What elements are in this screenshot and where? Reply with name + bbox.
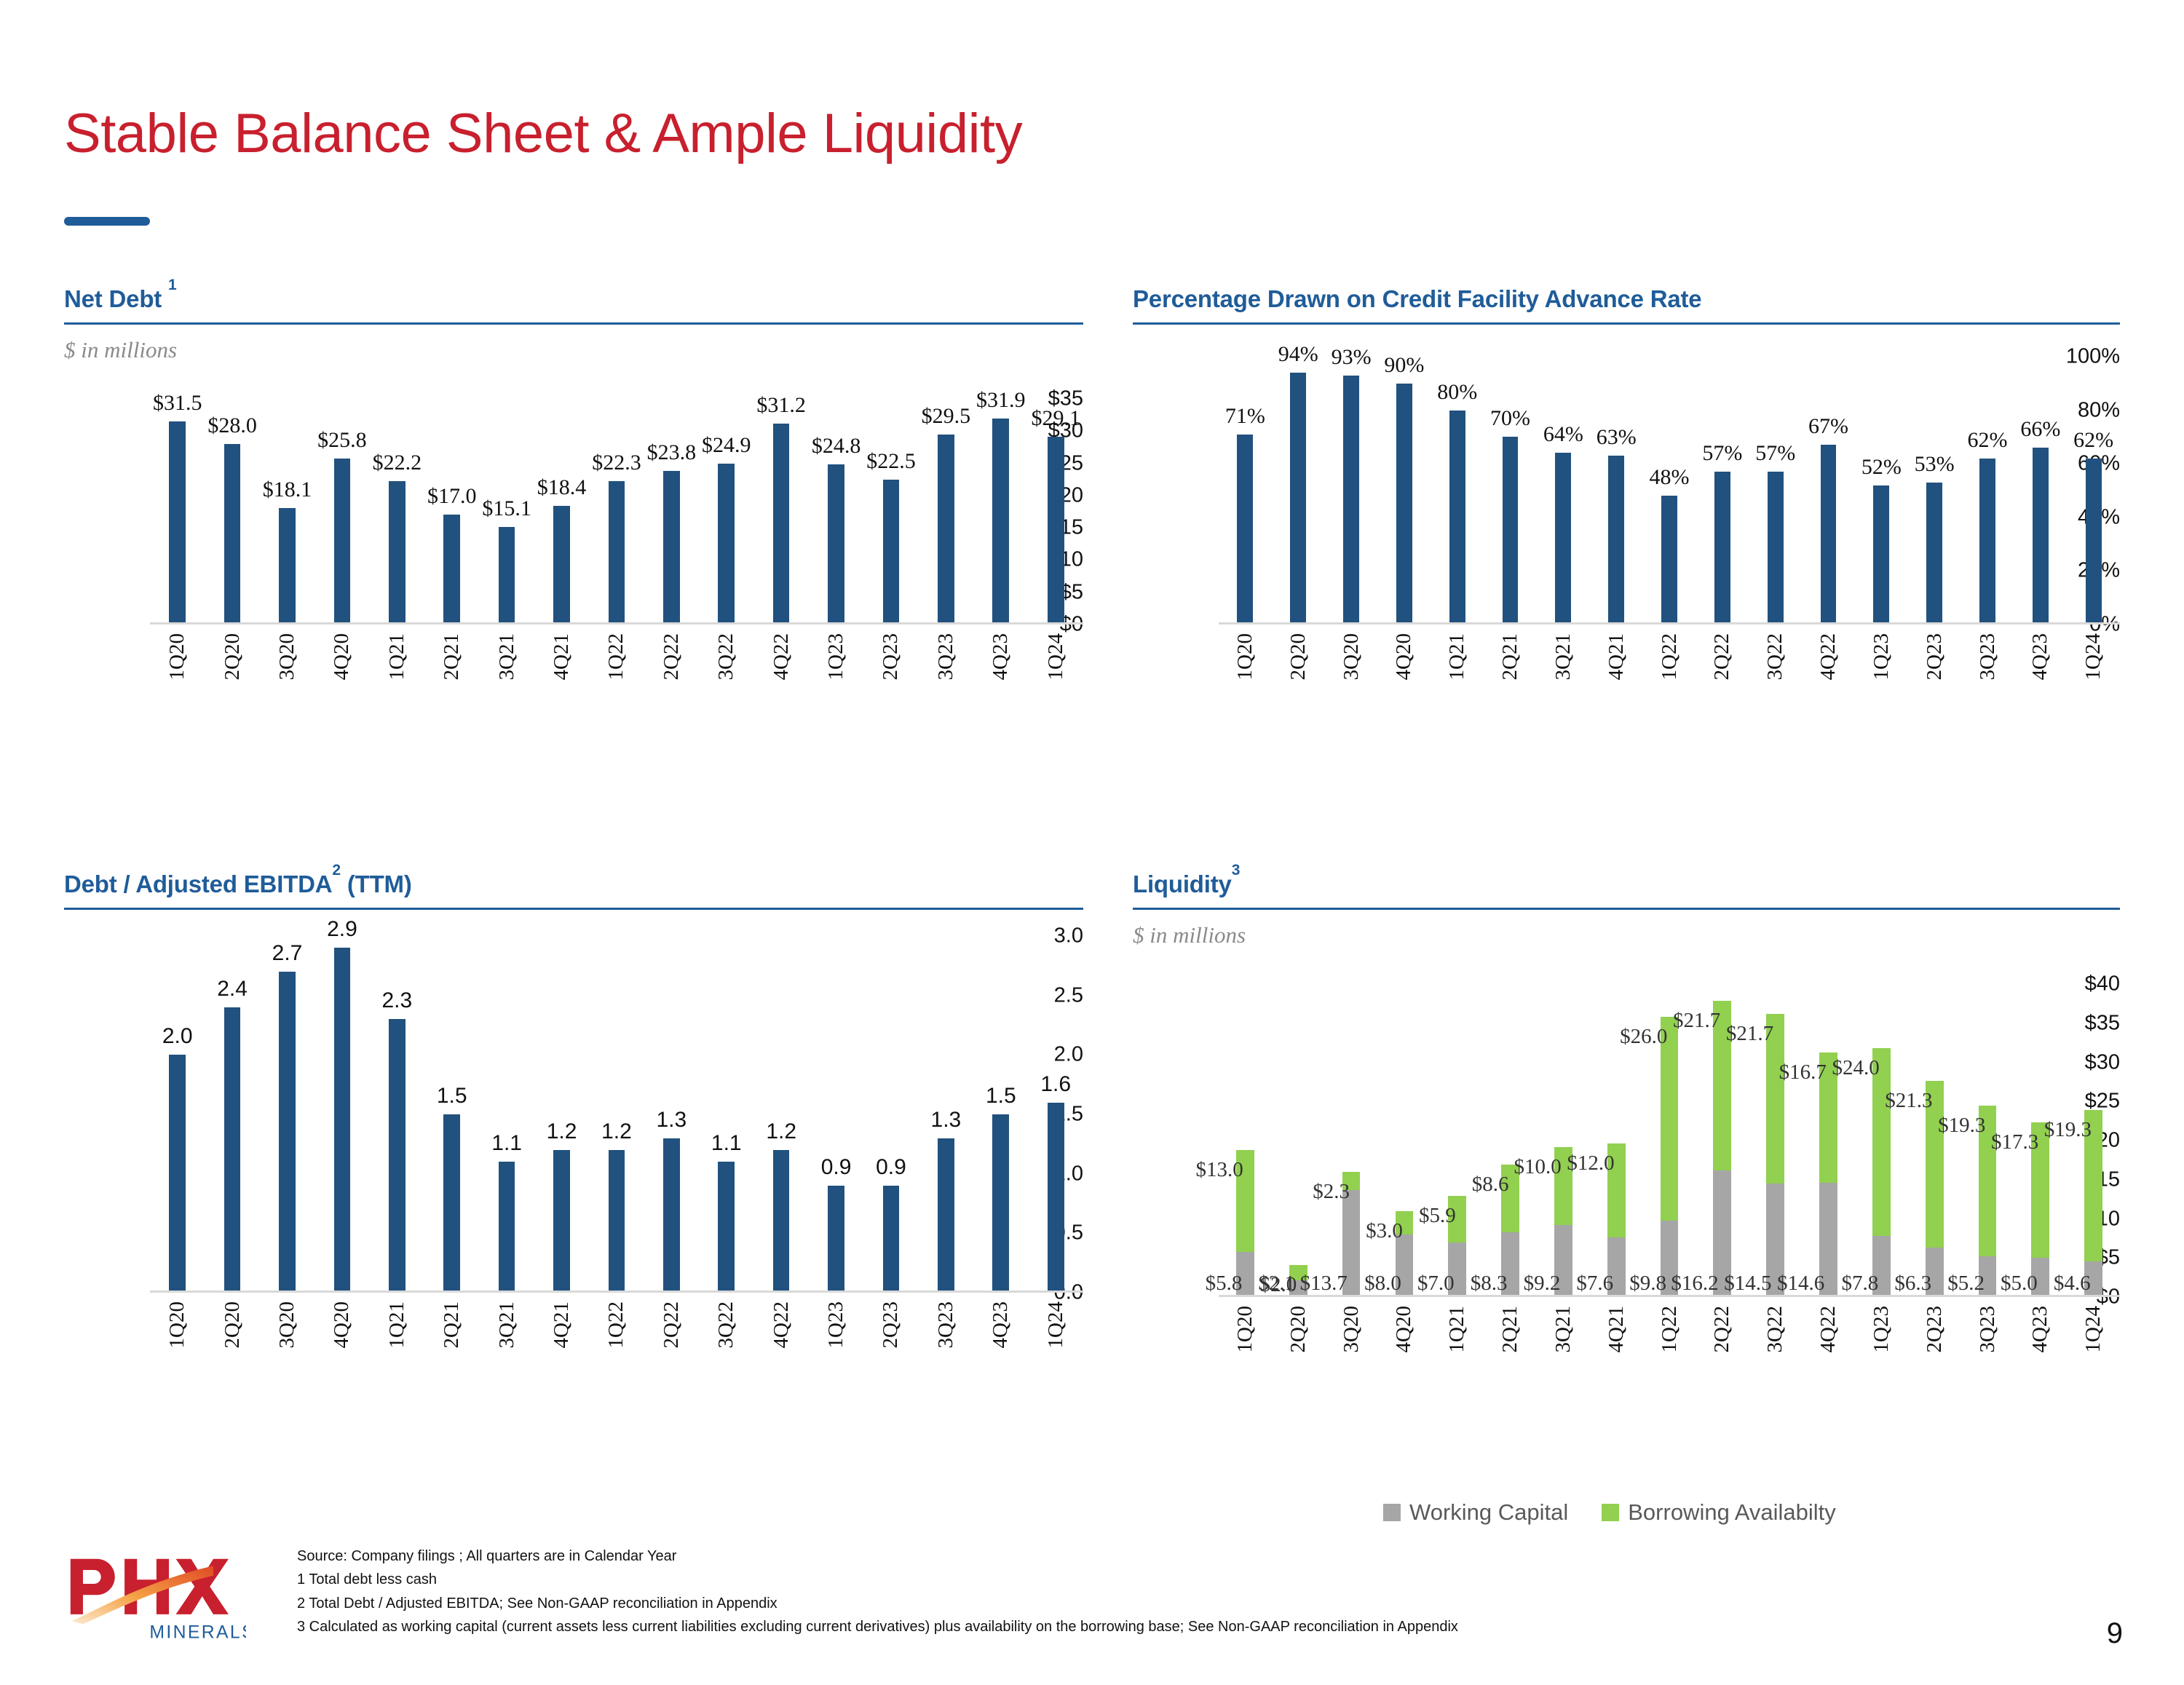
- bar-value-label: 1.1: [711, 1131, 742, 1156]
- bar-value-label: 62%: [2073, 428, 2113, 453]
- x-axis-tick: 3Q23: [1961, 633, 2014, 777]
- x-axis-baseline: [1219, 1295, 2120, 1297]
- x-axis-tick: 4Q21: [1590, 1306, 1643, 1450]
- panel-divider-pct-drawn: [1133, 322, 2120, 325]
- bar-value-label: 2.3: [381, 988, 412, 1013]
- bar[interactable]: [1290, 373, 1306, 625]
- bar-value-label: 1.1: [491, 1131, 522, 1156]
- footnote-marker-3: 3: [1232, 862, 1240, 879]
- bar[interactable]: [2086, 459, 2102, 625]
- x-axis-tick: 1Q22: [1643, 633, 1696, 777]
- bar-slot[interactable]: $29.5: [919, 399, 973, 625]
- bar-slot[interactable]: 0.9: [809, 936, 863, 1293]
- panel-title-net-debt: Net Debt 1: [64, 285, 1083, 313]
- x-axis-tick: 1Q23: [809, 633, 863, 777]
- bar-value-label: 64%: [1543, 422, 1583, 447]
- bar-slot[interactable]: $23.8: [644, 399, 699, 625]
- x-axis-tick: 4Q23: [2014, 1306, 2067, 1450]
- bar-value-label: $18.1: [263, 477, 312, 502]
- bar[interactable]: [334, 459, 351, 625]
- legend-label: Borrowing Availabilty: [1628, 1499, 1835, 1526]
- bar-value-label-working-capital: $13.7: [1300, 1272, 1348, 1296]
- bar-slot[interactable]: $22.2: [370, 399, 424, 625]
- plot-area-pct_drawn: 71%94%93%90%80%70%64%63%48%57%57%67%52%5…: [1219, 357, 2120, 625]
- bar-slot[interactable]: $31.5: [150, 399, 205, 625]
- bar-value-label-working-capital: $16.2: [1671, 1272, 1718, 1296]
- bar[interactable]: [1873, 485, 1889, 625]
- bar-value-label: $18.4: [537, 475, 587, 500]
- x-axis-tick: 1Q23: [1855, 633, 1908, 777]
- bar[interactable]: [992, 1114, 1009, 1293]
- x-axis-tick: 4Q20: [1377, 633, 1431, 777]
- panel-title-debt-ebitda: Debt / Adjusted EBITDA2 (TTM): [64, 871, 1083, 898]
- bar[interactable]: [1449, 411, 1465, 625]
- bar-value-label-borrowing-availability: $12.0: [1567, 1151, 1614, 1175]
- bar-slot[interactable]: $7.0$5.9: [1431, 984, 1484, 1297]
- x-axis-tick: 3Q21: [479, 1301, 534, 1446]
- bar[interactable]: [443, 1114, 460, 1293]
- x-axis-tick: 4Q22: [1802, 633, 1855, 777]
- x-axis-tick: 3Q20: [1325, 633, 1378, 777]
- bar[interactable]: [389, 481, 405, 625]
- bar-value-label: 66%: [2020, 417, 2060, 442]
- bar[interactable]: [1343, 376, 1359, 625]
- bar[interactable]: [279, 972, 296, 1293]
- x-axis-tick: 3Q20: [260, 1301, 314, 1446]
- bar-value-label: 0.9: [876, 1155, 906, 1180]
- bar-value-label: $22.5: [866, 449, 916, 474]
- bar-value-label-working-capital: $7.8: [1842, 1272, 1879, 1296]
- bar[interactable]: [773, 1150, 790, 1293]
- bar-value-label: 1.6: [1040, 1072, 1071, 1097]
- logo-wordmark: MINERALS: [149, 1622, 246, 1642]
- bar-value-label-borrowing-availability: $2.3: [1313, 1180, 1350, 1204]
- bar-value-label-working-capital: $6.3: [1894, 1272, 1931, 1296]
- bar-value-label: 93%: [1332, 345, 1372, 370]
- bar[interactable]: [443, 515, 460, 625]
- bar-slot[interactable]: $2.1$2.0: [1272, 984, 1325, 1297]
- bar-value-label: 1.5: [437, 1084, 467, 1109]
- bar[interactable]: [1979, 459, 1995, 625]
- bar[interactable]: [663, 471, 680, 625]
- footnote-line: 3 Calculated as working capital (current…: [297, 1615, 1458, 1638]
- bar-value-label: 67%: [1808, 414, 1848, 439]
- bar-slot[interactable]: $8.3$8.6: [1484, 984, 1537, 1297]
- bar[interactable]: [883, 1186, 900, 1293]
- bar-slot[interactable]: $24.9: [699, 399, 753, 625]
- phx-minerals-logo: MINERALS: [64, 1555, 246, 1642]
- bar-slot[interactable]: $14.5$21.7: [1749, 984, 1802, 1297]
- x-axis-debt_ebitda: 1Q202Q203Q204Q201Q212Q213Q214Q211Q222Q22…: [150, 1301, 1083, 1446]
- bar-slot[interactable]: $31.2: [753, 399, 808, 625]
- bar-slot[interactable]: $6.3$21.3: [1908, 984, 1961, 1297]
- bar[interactable]: [1048, 1103, 1064, 1293]
- panel-debt-ebitda: Debt / Adjusted EBITDA2 (TTM): [64, 871, 1083, 910]
- x-axis-tick: 1Q24: [1029, 1301, 1083, 1446]
- x-axis-tick: 2Q20: [1272, 633, 1325, 777]
- bar-slot[interactable]: $22.5: [863, 399, 918, 625]
- bar[interactable]: [1396, 384, 1412, 625]
- bar[interactable]: [389, 1019, 405, 1293]
- bar-value-label: 1.2: [547, 1119, 577, 1144]
- bar-value-label-borrowing-availability: $17.3: [1991, 1130, 2038, 1154]
- footnote-line: Source: Company filings ; All quarters a…: [297, 1545, 1458, 1568]
- bar-value-label: $23.8: [647, 440, 697, 465]
- footnote-marker-1: 1: [168, 277, 176, 293]
- legend-swatch-icon: [1602, 1504, 1619, 1521]
- bar[interactable]: [1661, 496, 1677, 625]
- bar-slot[interactable]: 52%: [1855, 357, 1908, 625]
- x-axis-tick: 4Q21: [1590, 633, 1643, 777]
- bar-slot[interactable]: 67%: [1802, 357, 1855, 625]
- stacked-bar[interactable]: [1872, 1048, 1891, 1297]
- x-axis-tick: 3Q22: [699, 1301, 753, 1446]
- bar-value-label: $22.2: [373, 451, 422, 475]
- bar-value-label: $24.9: [702, 433, 751, 458]
- bar-value-label: 63%: [1597, 425, 1637, 450]
- bar[interactable]: [553, 506, 570, 625]
- bar-slot[interactable]: 57%: [1749, 357, 1802, 625]
- bar-slot[interactable]: 2.7: [260, 936, 314, 1293]
- x-axis-tick: 1Q20: [1219, 1306, 1272, 1450]
- bar-slot[interactable]: 2.9: [314, 936, 369, 1293]
- bar-slot[interactable]: $18.4: [534, 399, 589, 625]
- bar-value-label-working-capital: $5.8: [1206, 1272, 1243, 1296]
- bar-slot[interactable]: $13.7$2.3: [1325, 984, 1378, 1297]
- bar[interactable]: [718, 1162, 735, 1293]
- stacked-bar[interactable]: [1819, 1052, 1837, 1297]
- bar-value-label: 53%: [1915, 452, 1955, 477]
- bar[interactable]: [1503, 437, 1519, 625]
- x-axis-tick: 1Q23: [1855, 1306, 1908, 1450]
- title-underline-accent: [64, 217, 150, 226]
- x-axis-tick: 1Q24: [1029, 633, 1083, 777]
- panel-title-debt-ebitda-text: Debt / Adjusted EBITDA: [64, 871, 332, 897]
- panel-liquidity: Liquidity3 $ in millions: [1133, 871, 2120, 948]
- x-axis-tick: 3Q20: [260, 633, 314, 777]
- bar[interactable]: [169, 421, 186, 625]
- bar-value-label: 1.5: [986, 1084, 1016, 1109]
- bar[interactable]: [1555, 453, 1571, 625]
- x-axis-tick: 3Q23: [1961, 1306, 2014, 1450]
- bar[interactable]: [828, 1186, 844, 1293]
- footnotes-block: Source: Company filings ; All quarters a…: [297, 1545, 1458, 1639]
- bar[interactable]: [1714, 472, 1730, 625]
- bar-slot[interactable]: 57%: [1696, 357, 1749, 625]
- bar[interactable]: [1821, 445, 1837, 625]
- bar[interactable]: [992, 419, 1009, 625]
- bar[interactable]: [279, 508, 296, 625]
- legend-item-working-capital[interactable]: Working Capital: [1383, 1499, 1568, 1526]
- bar-value-label: $29.5: [922, 404, 971, 429]
- x-axis-tick: 3Q23: [919, 1301, 973, 1446]
- legend-label: Working Capital: [1409, 1499, 1568, 1526]
- x-axis-net_debt: 1Q202Q203Q204Q201Q212Q213Q214Q211Q222Q22…: [150, 633, 1083, 777]
- legend-liquidity: Working CapitalBorrowing Availabilty: [1383, 1499, 1836, 1526]
- bar-slot[interactable]: 0.9: [863, 936, 918, 1293]
- bar-value-label: $25.8: [317, 428, 367, 453]
- panel-divider-net-debt: [64, 322, 1083, 325]
- bar-slot[interactable]: $4.6$19.3: [2067, 984, 2120, 1297]
- bar[interactable]: [938, 435, 954, 625]
- x-axis-tick: 4Q21: [534, 633, 589, 777]
- x-axis-tick: 4Q20: [314, 633, 369, 777]
- bar-slot[interactable]: 1.1: [699, 936, 753, 1293]
- slide-root: Stable Balance Sheet & Ample Liquidity N…: [0, 0, 2184, 1685]
- bar[interactable]: [1768, 472, 1784, 625]
- x-axis-tick: 2Q21: [424, 633, 479, 777]
- bar-slot[interactable]: 62%: [1961, 357, 2014, 625]
- bar-value-label: 57%: [1755, 441, 1795, 466]
- bar-slot[interactable]: 93%: [1325, 357, 1378, 625]
- legend-item-borrowing-availability[interactable]: Borrowing Availabilty: [1602, 1499, 1835, 1526]
- page-number: 9: [2107, 1617, 2123, 1650]
- bar-slot[interactable]: 63%: [1590, 357, 1643, 625]
- bar-slot[interactable]: $8.0$3.0: [1377, 984, 1431, 1297]
- bar-value-label-borrowing-availability: $10.0: [1514, 1155, 1562, 1179]
- chart-debt-ebitda: 0.00.51.01.52.02.53.02.02.42.72.92.31.51…: [64, 936, 1083, 1446]
- x-axis-tick: 2Q22: [644, 1301, 699, 1446]
- x-axis-tick: 1Q21: [370, 1301, 424, 1446]
- bar-value-label-working-capital: $7.0: [1417, 1272, 1455, 1296]
- x-axis-tick: 1Q20: [150, 1301, 205, 1446]
- panel-net-debt: Net Debt 1 $ in millions: [64, 285, 1083, 363]
- x-axis-tick: 4Q23: [2014, 633, 2067, 777]
- bar-value-label-working-capital: $4.6: [2054, 1272, 2091, 1296]
- x-axis-tick: 4Q20: [314, 1301, 369, 1446]
- bar-slot[interactable]: 48%: [1643, 357, 1696, 625]
- bar-value-label-borrowing-availability: $3.0: [1366, 1219, 1403, 1243]
- x-axis-pct_drawn: 1Q202Q203Q204Q201Q212Q213Q214Q211Q222Q22…: [1219, 633, 2120, 777]
- chart-net-debt: $0$5$10$15$20$25$30$35$31.5$28.0$18.1$25…: [64, 399, 1083, 777]
- bar-slot[interactable]: 90%: [1377, 357, 1431, 625]
- bar-value-label-borrowing-availability: $19.3: [2044, 1118, 2092, 1142]
- bar-value-label: 2.4: [217, 977, 248, 1002]
- bar-slot[interactable]: 1.2: [753, 936, 808, 1293]
- units-label-net-debt: $ in millions: [64, 337, 1083, 363]
- bar-slot[interactable]: 66%: [2014, 357, 2067, 625]
- bar-slot[interactable]: 64%: [1537, 357, 1590, 625]
- x-axis-tick: 4Q23: [973, 633, 1028, 777]
- bar-value-label: 2.0: [162, 1024, 193, 1049]
- bar-value-label: 70%: [1490, 406, 1530, 431]
- bar-value-label-working-capital: $7.6: [1576, 1272, 1613, 1296]
- bar-slot[interactable]: $15.1: [479, 399, 534, 625]
- panel-title-liquidity-text: Liquidity: [1133, 871, 1232, 897]
- x-axis-tick: 2Q20: [205, 1301, 259, 1446]
- x-axis-tick: 1Q23: [809, 1301, 863, 1446]
- bar-value-label-borrowing-availability: $16.7: [1779, 1060, 1827, 1085]
- panel-title-debt-ebitda-tail: (TTM): [341, 871, 412, 897]
- bar-value-label: $29.1: [1031, 406, 1080, 431]
- bar[interactable]: [938, 1138, 954, 1293]
- bar-value-label: 2.9: [327, 917, 357, 942]
- bar-value-label: $24.8: [812, 434, 861, 459]
- footnote-line: 1 Total debt less cash: [297, 1568, 1458, 1591]
- bar-value-label: 62%: [1968, 428, 2008, 453]
- plot-area-net_debt: $31.5$28.0$18.1$25.8$22.2$17.0$15.1$18.4…: [150, 399, 1083, 625]
- bar-slot[interactable]: $14.6$16.7: [1802, 984, 1855, 1297]
- bar[interactable]: [224, 1007, 241, 1293]
- x-axis-tick: 3Q21: [1537, 633, 1590, 777]
- bar[interactable]: [1048, 437, 1064, 625]
- bar[interactable]: [1608, 456, 1624, 625]
- bar-value-label: $31.9: [976, 388, 1026, 413]
- bar-slot[interactable]: 1.2: [534, 936, 589, 1293]
- bar-slot[interactable]: 1.2: [589, 936, 644, 1293]
- bar-slot[interactable]: $7.8$24.0: [1855, 984, 1908, 1297]
- x-axis-tick: 1Q20: [150, 633, 205, 777]
- bar-value-label: 52%: [1861, 455, 1902, 480]
- page-title: Stable Balance Sheet & Ample Liquidity: [64, 102, 1022, 165]
- stacked-bar[interactable]: [1766, 1014, 1784, 1297]
- bar-value-label: 94%: [1278, 342, 1318, 367]
- bar-slot[interactable]: 2.0: [150, 936, 205, 1293]
- x-axis-tick: 2Q22: [1696, 633, 1749, 777]
- bar-slot[interactable]: $25.8: [314, 399, 369, 625]
- bar-slot[interactable]: $18.1: [260, 399, 314, 625]
- bar-value-label: $31.5: [153, 391, 202, 416]
- x-axis-tick: 2Q22: [644, 633, 699, 777]
- bar-value-label: 48%: [1650, 465, 1690, 490]
- bar-value-label-working-capital: $9.2: [1524, 1272, 1561, 1296]
- bar-value-label: $28.0: [207, 413, 257, 438]
- x-axis-tick: 4Q23: [973, 1301, 1028, 1446]
- legend-swatch-icon: [1383, 1504, 1401, 1521]
- bar-value-label-borrowing-availability: $2.0: [1259, 1273, 1297, 1297]
- x-axis-tick: 2Q20: [205, 633, 259, 777]
- bar-slot[interactable]: $5.8$13.0: [1219, 984, 1272, 1297]
- x-axis-tick: 2Q21: [424, 1301, 479, 1446]
- x-axis-baseline: [150, 622, 1083, 625]
- bar-value-label-borrowing-availability: $21.7: [1726, 1022, 1773, 1046]
- bar-value-label-working-capital: $14.6: [1777, 1272, 1824, 1296]
- bar[interactable]: [224, 444, 241, 625]
- bar-value-label: 71%: [1225, 404, 1265, 429]
- bar[interactable]: [883, 480, 900, 625]
- bar-value-label-working-capital: $14.5: [1724, 1272, 1771, 1296]
- bar[interactable]: [169, 1055, 186, 1293]
- bar-slot[interactable]: $29.1: [1029, 399, 1083, 625]
- bar[interactable]: [499, 527, 515, 625]
- bar-value-label-working-capital: $8.3: [1471, 1272, 1508, 1296]
- x-axis-tick: 3Q22: [699, 633, 753, 777]
- x-axis-tick: 3Q21: [479, 633, 534, 777]
- bar-slot[interactable]: 62%: [2067, 357, 2120, 625]
- x-axis-tick: 1Q24: [2067, 633, 2120, 777]
- bar-value-label-borrowing-availability: $19.3: [1938, 1114, 1985, 1138]
- bar[interactable]: [773, 424, 790, 625]
- bar-slot[interactable]: 1.3: [644, 936, 699, 1293]
- bar[interactable]: [499, 1162, 515, 1293]
- x-axis-tick: 2Q22: [1696, 1306, 1749, 1450]
- bar-slot[interactable]: 2.4: [205, 936, 259, 1293]
- bar-group-liquidity: $5.8$13.0$2.1$2.0$13.7$2.3$8.0$3.0$7.0$5…: [1219, 984, 2120, 1297]
- x-axis-tick: 3Q22: [1749, 1306, 1802, 1450]
- x-axis-tick: 3Q22: [1749, 633, 1802, 777]
- bar-slot[interactable]: 70%: [1484, 357, 1537, 625]
- chart-liquidity: $0$5$10$15$20$25$30$35$40$5.8$13.0$2.1$2…: [1133, 984, 2120, 1450]
- bar-value-label-working-capital: $8.0: [1364, 1272, 1401, 1296]
- x-axis-tick: 2Q23: [1908, 633, 1961, 777]
- x-axis-tick: 3Q23: [919, 633, 973, 777]
- bar-slot[interactable]: $17.0: [424, 399, 479, 625]
- bar[interactable]: [609, 1150, 625, 1293]
- bar[interactable]: [663, 1138, 680, 1293]
- bar-slot[interactable]: 80%: [1431, 357, 1484, 625]
- bar-slot[interactable]: $22.3: [589, 399, 644, 625]
- bar-slot[interactable]: 2.3: [370, 936, 424, 1293]
- x-axis-baseline: [1219, 622, 2120, 625]
- bar-value-label: 80%: [1437, 380, 1477, 405]
- bar-slot[interactable]: 94%: [1272, 357, 1325, 625]
- bar-group-pct_drawn: 71%94%93%90%80%70%64%63%48%57%57%67%52%5…: [1219, 357, 2120, 625]
- x-axis-tick: 3Q20: [1325, 1306, 1378, 1450]
- footnote-line: 2 Total Debt / Adjusted EBITDA; See Non-…: [297, 1592, 1458, 1615]
- bar-slot[interactable]: $28.0: [205, 399, 259, 625]
- bar-value-label-working-capital: $5.0: [2001, 1272, 2038, 1296]
- bar-slot[interactable]: 53%: [1908, 357, 1961, 625]
- bar[interactable]: [334, 948, 351, 1293]
- bar-value-label-borrowing-availability: $21.3: [1885, 1089, 1932, 1113]
- bar-value-label: 1.2: [766, 1119, 796, 1144]
- bar-group-debt_ebitda: 2.02.42.72.92.31.51.11.21.21.31.11.20.90…: [150, 936, 1083, 1293]
- bar-value-label-borrowing-availability: $24.0: [1832, 1056, 1879, 1080]
- bar-value-label: 90%: [1384, 353, 1424, 378]
- bar[interactable]: [553, 1150, 570, 1293]
- bar-value-label: $22.3: [592, 451, 641, 475]
- bar[interactable]: [718, 464, 735, 625]
- bar-value-label: 1.3: [657, 1108, 687, 1133]
- bar-value-label: 57%: [1702, 441, 1742, 466]
- bar-slot[interactable]: $9.2$10.0: [1537, 984, 1590, 1297]
- bar-value-label-borrowing-availability: $5.9: [1419, 1204, 1456, 1228]
- bar-value-label-working-capital: $9.8: [1629, 1272, 1666, 1296]
- x-axis-tick: 4Q22: [753, 633, 808, 777]
- bar-slot[interactable]: $31.9: [973, 399, 1028, 625]
- x-axis-tick: 1Q22: [589, 1301, 644, 1446]
- stacked-bar[interactable]: [1661, 1017, 1679, 1297]
- x-axis-tick: 4Q21: [534, 1301, 589, 1446]
- panel-title-pct-drawn: Percentage Drawn on Credit Facility Adva…: [1133, 285, 2120, 313]
- bar[interactable]: [1926, 483, 1942, 625]
- bar[interactable]: [1237, 435, 1253, 625]
- bar-slot[interactable]: 1.1: [479, 936, 534, 1293]
- panel-pct-drawn: Percentage Drawn on Credit Facility Adva…: [1133, 285, 2120, 325]
- x-axis-tick: 4Q22: [753, 1301, 808, 1446]
- x-axis-tick: 1Q22: [589, 633, 644, 777]
- units-label-liquidity: $ in millions: [1133, 922, 2120, 948]
- bar-slot[interactable]: 1.6: [1029, 936, 1083, 1293]
- bar-slot[interactable]: 71%: [1219, 357, 1272, 625]
- bar-value-label-borrowing-availability: $13.0: [1196, 1158, 1243, 1182]
- bar[interactable]: [2033, 448, 2049, 625]
- bar-slot[interactable]: 1.3: [919, 936, 973, 1293]
- x-axis-tick: 1Q20: [1219, 633, 1272, 777]
- bar-slot[interactable]: 1.5: [973, 936, 1028, 1293]
- bar-slot[interactable]: $24.8: [809, 399, 863, 625]
- plot-area-liquidity: $5.8$13.0$2.1$2.0$13.7$2.3$8.0$3.0$7.0$5…: [1219, 984, 2120, 1297]
- panel-divider-debt-ebitda: [64, 908, 1083, 910]
- x-axis-tick: 3Q21: [1537, 1306, 1590, 1450]
- bar[interactable]: [609, 481, 625, 625]
- bar-slot[interactable]: 1.5: [424, 936, 479, 1293]
- x-axis-tick: 2Q23: [1908, 1306, 1961, 1450]
- plot-area-debt_ebitda: 2.02.42.72.92.31.51.11.21.21.31.11.20.90…: [150, 936, 1083, 1293]
- x-axis-tick: 1Q21: [1431, 633, 1484, 777]
- x-axis-tick: 2Q23: [863, 1301, 918, 1446]
- bar[interactable]: [828, 464, 844, 625]
